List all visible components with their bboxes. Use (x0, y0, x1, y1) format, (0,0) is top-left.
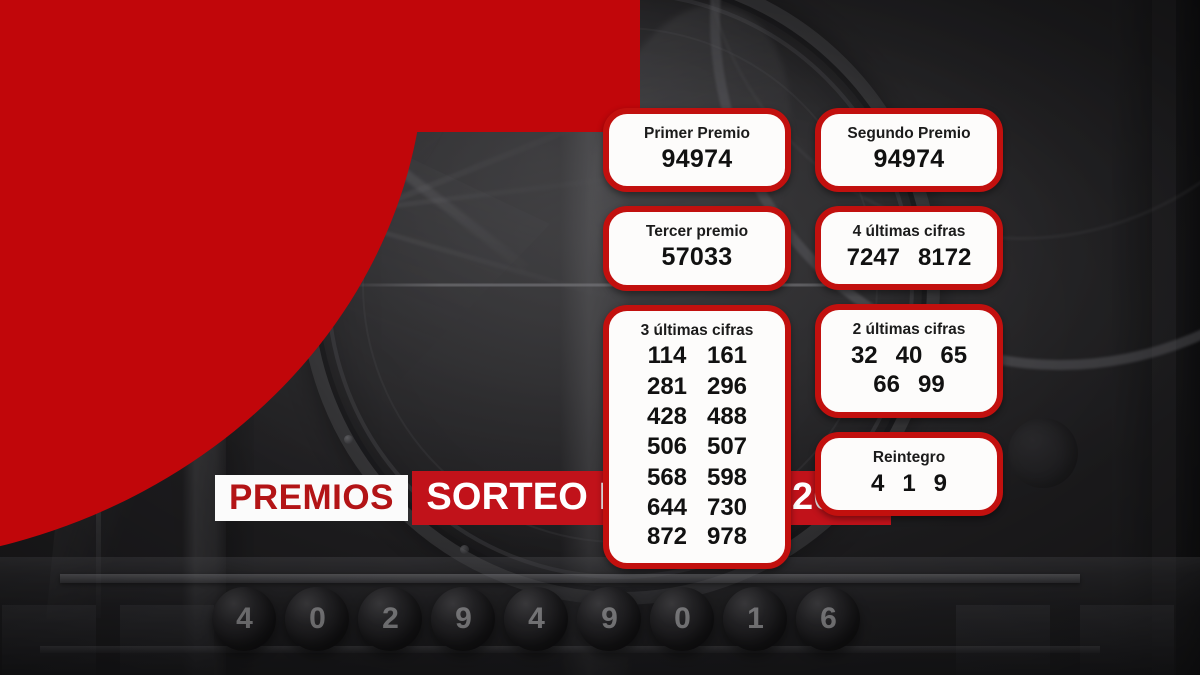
prize-number: 65 (940, 341, 967, 370)
card-label-cuatro-cifras: 4 últimas cifras (829, 223, 989, 241)
prize-number: 7247 (847, 243, 900, 272)
prize-number: 8172 (918, 243, 971, 272)
prize-number: 568 (637, 463, 697, 492)
prize-number: 40 (896, 341, 923, 370)
cards-left-column: Primer Premio 94974 Tercer premio 57033 … (603, 108, 791, 569)
prize-number: 488 (697, 402, 757, 431)
prize-number: 428 (637, 402, 697, 431)
card-values-cuatro-cifras: 7247 8172 (829, 243, 989, 272)
cards-row-top: Primer Premio 94974 Tercer premio 57033 … (603, 108, 1003, 569)
card-primer-premio[interactable]: Primer Premio 94974 (603, 108, 791, 192)
card-segundo-premio[interactable]: Segundo Premio 94974 (815, 108, 1003, 192)
prize-number: 4 (871, 469, 884, 498)
prize-number: 507 (697, 432, 757, 461)
card-cuatro-ultimas-cifras[interactable]: 4 últimas cifras 7247 8172 (815, 206, 1003, 290)
card-label-primer-premio: Primer Premio (617, 125, 777, 143)
card-tres-ultimas-cifras[interactable]: 3 últimas cifras 114 161 281 296 428 488… (603, 305, 791, 570)
poster-canvas: 4 0 2 9 4 9 0 1 6 PREMIOS SORTEO DEL NIÑ… (0, 0, 1200, 675)
card-label-tres-cifras: 3 últimas cifras (617, 322, 777, 340)
prize-number: 32 (851, 341, 878, 370)
card-label-reintegro: Reintegro (829, 449, 989, 467)
cards-right-column: Segundo Premio 94974 4 últimas cifras 72… (815, 108, 1003, 569)
red-swoosh-top-fill (0, 0, 640, 132)
card-values-reintegro: 4 1 9 (829, 469, 989, 498)
card-values-tres-cifras-last-row: 872 978 (617, 522, 777, 551)
card-label-dos-cifras: 2 últimas cifras (829, 321, 989, 339)
prize-number: 1 (902, 469, 915, 498)
card-reintegro[interactable]: Reintegro 4 1 9 (815, 432, 1003, 516)
card-values-dos-cifras-row2: 66 99 (829, 370, 989, 399)
prize-number: 872 (637, 522, 697, 551)
card-values-dos-cifras-row1: 32 40 65 (829, 341, 989, 370)
prize-number: 114 (637, 341, 697, 370)
prize-number: 66 (873, 370, 900, 399)
prize-number: 644 (637, 493, 697, 522)
card-value-tercer-premio: 57033 (617, 243, 777, 273)
prize-number: 99 (918, 370, 945, 399)
prize-number: 730 (697, 493, 757, 522)
prize-number: 506 (637, 432, 697, 461)
card-dos-ultimas-cifras[interactable]: 2 últimas cifras 32 40 65 66 99 (815, 304, 1003, 417)
prize-number: 598 (697, 463, 757, 492)
prize-number: 9 (934, 469, 947, 498)
card-value-primer-premio: 94974 (617, 145, 777, 175)
prize-number: 161 (697, 341, 757, 370)
card-tercer-premio[interactable]: Tercer premio 57033 (603, 206, 791, 290)
prize-number: 978 (697, 522, 757, 551)
prize-number: 296 (697, 372, 757, 401)
prize-cards-panel: Primer Premio 94974 Tercer premio 57033 … (603, 108, 1003, 569)
page-title-premios: PREMIOS (215, 475, 408, 521)
card-label-segundo-premio: Segundo Premio (829, 125, 989, 143)
card-label-tercer-premio: Tercer premio (617, 223, 777, 241)
prize-number: 281 (637, 372, 697, 401)
card-values-tres-cifras: 114 161 281 296 428 488 506 507 568 598 … (617, 341, 777, 522)
card-value-segundo-premio: 94974 (829, 145, 989, 175)
